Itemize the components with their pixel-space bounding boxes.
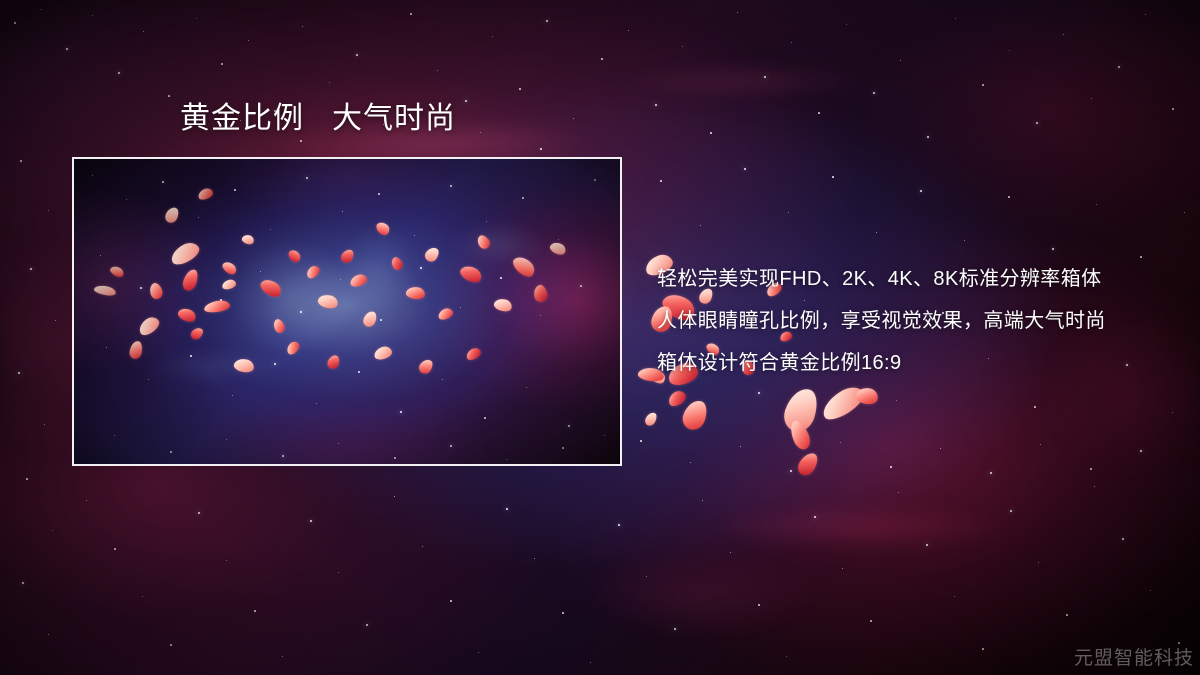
body-text-block: 轻松完美实现FHD、2K、4K、8K标准分辨率箱体 人体眼睛瞳孔比例，享受视觉效… bbox=[657, 258, 1157, 384]
star bbox=[1010, 510, 1012, 512]
body-line-1: 轻松完美实现FHD、2K、4K、8K标准分辨率箱体 bbox=[657, 258, 1157, 300]
star bbox=[873, 92, 875, 94]
star bbox=[248, 40, 249, 41]
star bbox=[1052, 248, 1054, 250]
star bbox=[410, 13, 412, 15]
star bbox=[44, 424, 45, 425]
flower-petal bbox=[780, 384, 822, 435]
star bbox=[730, 552, 731, 553]
star bbox=[702, 500, 703, 501]
star bbox=[66, 48, 68, 50]
star bbox=[338, 572, 339, 573]
star bbox=[818, 112, 820, 114]
star bbox=[48, 634, 49, 635]
star bbox=[142, 596, 143, 597]
star bbox=[1066, 614, 1068, 616]
star bbox=[41, 9, 42, 10]
star bbox=[786, 656, 787, 657]
star bbox=[601, 58, 603, 60]
star bbox=[1090, 468, 1092, 470]
star bbox=[196, 18, 197, 19]
watermark: 元盟智能科技 bbox=[1074, 643, 1194, 670]
star bbox=[744, 168, 746, 170]
star bbox=[329, 82, 330, 83]
body-line-2: 人体眼睛瞳孔比例，享受视觉效果，高端大气时尚 bbox=[657, 300, 1157, 342]
star bbox=[1094, 486, 1095, 487]
star bbox=[20, 160, 22, 162]
star bbox=[660, 180, 662, 182]
star bbox=[655, 104, 657, 106]
star bbox=[1122, 538, 1124, 540]
body-line-3: 箱体设计符合黄金比例16:9 bbox=[657, 342, 1157, 384]
flower-petal bbox=[818, 381, 869, 424]
star bbox=[534, 558, 535, 559]
star bbox=[22, 582, 24, 584]
star bbox=[92, 15, 93, 16]
star bbox=[52, 530, 53, 531]
star bbox=[114, 548, 116, 550]
star bbox=[710, 132, 712, 134]
star bbox=[964, 240, 965, 241]
star bbox=[758, 604, 760, 606]
star bbox=[788, 212, 789, 213]
star bbox=[954, 596, 955, 597]
star bbox=[791, 42, 792, 43]
star bbox=[1034, 406, 1036, 408]
star bbox=[1118, 66, 1120, 68]
flower-petal bbox=[787, 418, 814, 452]
star bbox=[1091, 98, 1092, 99]
star bbox=[1184, 212, 1185, 213]
star bbox=[590, 662, 591, 663]
framed-photo[interactable] bbox=[72, 157, 622, 466]
star bbox=[900, 60, 901, 61]
star bbox=[465, 100, 467, 102]
flower-petal bbox=[795, 450, 821, 479]
star bbox=[198, 512, 200, 514]
star bbox=[700, 225, 701, 226]
star bbox=[674, 628, 676, 630]
flower-petal bbox=[680, 397, 711, 433]
star bbox=[480, 132, 481, 133]
star bbox=[1036, 122, 1038, 124]
star bbox=[478, 652, 479, 653]
star bbox=[870, 620, 872, 622]
photo-vignette bbox=[74, 159, 620, 464]
star bbox=[1009, 50, 1010, 51]
star bbox=[740, 446, 741, 447]
star bbox=[646, 576, 647, 577]
flower-petal bbox=[643, 410, 658, 427]
star bbox=[832, 176, 834, 178]
star bbox=[1145, 14, 1146, 15]
star bbox=[898, 492, 899, 493]
star bbox=[1150, 590, 1151, 591]
star bbox=[18, 372, 20, 374]
star bbox=[48, 210, 49, 211]
star bbox=[55, 320, 56, 321]
star bbox=[1096, 204, 1097, 205]
star bbox=[422, 546, 423, 547]
star bbox=[842, 568, 843, 569]
star bbox=[926, 544, 928, 546]
presentation-slide: 黄金比例 大气时尚 轻松完美实现FHD、2K、4K、8K标准分辨率箱体 人体眼睛… bbox=[0, 0, 1200, 675]
star bbox=[940, 448, 941, 449]
star bbox=[737, 12, 738, 13]
star bbox=[1008, 196, 1010, 198]
star bbox=[170, 644, 172, 646]
star bbox=[876, 232, 877, 233]
star bbox=[300, 140, 302, 142]
star bbox=[30, 268, 32, 270]
star bbox=[920, 190, 922, 192]
star bbox=[14, 22, 16, 24]
star bbox=[226, 560, 227, 561]
star bbox=[356, 54, 358, 56]
star bbox=[890, 466, 892, 468]
flower-petal bbox=[855, 386, 880, 406]
star bbox=[562, 612, 564, 614]
star bbox=[618, 524, 620, 526]
star bbox=[221, 63, 223, 65]
star bbox=[990, 472, 992, 474]
star bbox=[1140, 450, 1142, 452]
star bbox=[86, 500, 87, 501]
page-title: 黄金比例 大气时尚 bbox=[180, 101, 456, 137]
star bbox=[254, 610, 256, 612]
star bbox=[546, 20, 548, 22]
star bbox=[1172, 108, 1174, 110]
star bbox=[366, 624, 368, 626]
star bbox=[982, 84, 984, 86]
star bbox=[1172, 412, 1173, 413]
star bbox=[310, 520, 312, 522]
star bbox=[519, 88, 521, 90]
star bbox=[302, 26, 303, 27]
flower-petal bbox=[666, 388, 688, 408]
star bbox=[927, 136, 929, 138]
star bbox=[540, 148, 542, 150]
star bbox=[437, 70, 438, 71]
star bbox=[450, 600, 452, 602]
star bbox=[118, 72, 120, 74]
star bbox=[690, 462, 691, 463]
star bbox=[814, 516, 816, 518]
star bbox=[982, 648, 984, 650]
star bbox=[26, 478, 28, 480]
star bbox=[640, 440, 642, 442]
star bbox=[506, 508, 508, 510]
star bbox=[764, 76, 766, 78]
star bbox=[682, 46, 683, 47]
star bbox=[168, 95, 170, 97]
star bbox=[1063, 34, 1064, 35]
star bbox=[896, 400, 897, 401]
star bbox=[840, 442, 841, 443]
star bbox=[846, 24, 847, 25]
star bbox=[282, 656, 283, 657]
star bbox=[573, 118, 574, 119]
star bbox=[1040, 444, 1041, 445]
star bbox=[492, 36, 493, 37]
star bbox=[394, 496, 395, 497]
star bbox=[1038, 562, 1039, 563]
star bbox=[790, 470, 792, 472]
star bbox=[628, 30, 629, 31]
star bbox=[758, 392, 760, 394]
star bbox=[143, 31, 144, 32]
star bbox=[955, 18, 956, 19]
